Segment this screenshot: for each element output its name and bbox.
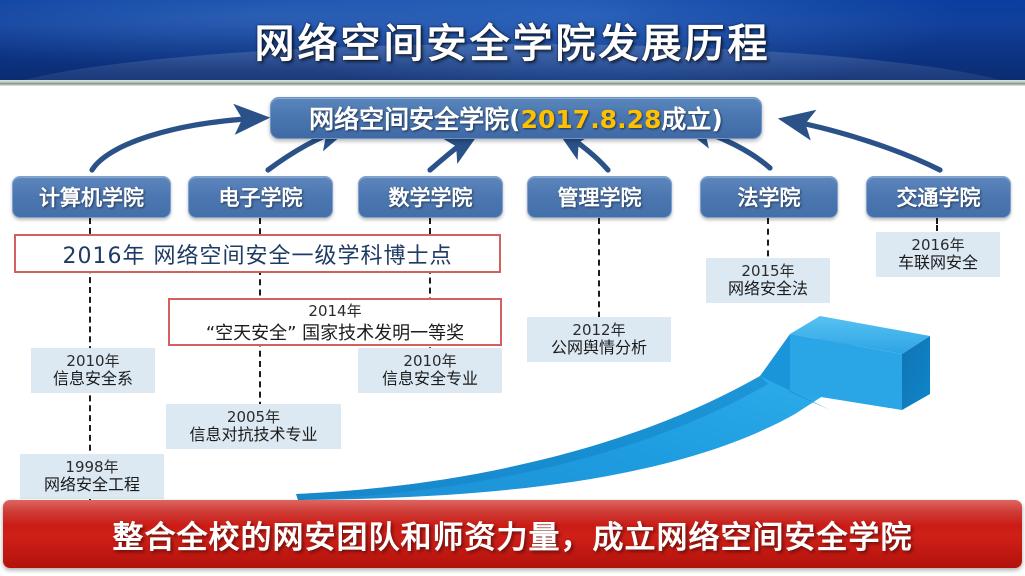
dept-label-management: 管理学院 (558, 182, 642, 212)
dept-box-management[interactable]: 管理学院 (527, 176, 672, 218)
dept-box-transport[interactable]: 交通学院 (866, 176, 1011, 218)
milestone-year-2015: 2015年 (741, 263, 794, 280)
milestone-year-1998: 1998年 (65, 459, 118, 476)
connector-arrow-1 (92, 118, 262, 170)
dept-box-math[interactable]: 数学学院 (358, 176, 503, 218)
milestone-box-2005-major[interactable]: 2005年 信息对抗技术专业 (166, 404, 341, 449)
page-title: 网络空间安全学院发展历程 (0, 11, 1025, 69)
diagram-canvas: 网络空间安全学院(2017.8.28成立) 计算机学院 电子学院 数学学院 管理… (0, 86, 1025, 496)
milestone-year-2012: 2012年 (572, 322, 625, 339)
highlight-label-2014-award: “空天安全” 国家技术发明一等奖 (206, 319, 464, 345)
milestone-label-2016-iov: 车联网安全 (898, 254, 978, 272)
milestone-label-2010-major: 信息安全专业 (382, 370, 478, 388)
milestone-label-2015: 网络安全法 (728, 280, 808, 298)
highlight-box-2014-award[interactable]: 2014年 “空天安全” 国家技术发明一等奖 (168, 298, 502, 346)
hero-suffix: 成立) (661, 105, 722, 134)
dept-label-law: 法学院 (738, 182, 801, 212)
milestone-year-2010-dept: 2010年 (66, 353, 119, 370)
milestone-label-2012: 公网舆情分析 (551, 339, 647, 357)
milestone-year-2010-major: 2010年 (403, 353, 456, 370)
dept-box-electronic[interactable]: 电子学院 (188, 176, 333, 218)
milestone-box-2015-law[interactable]: 2015年 网络安全法 (706, 258, 830, 303)
bottom-banner-text: 整合全校的网安团队和师资力量，成立网络空间安全学院 (113, 512, 913, 557)
hero-founding-date: 2017.8.28 (521, 105, 662, 134)
dept-box-law[interactable]: 法学院 (700, 176, 838, 218)
milestone-box-2010-major[interactable]: 2010年 信息安全专业 (358, 348, 502, 393)
slide-title-bar: 网络空间安全学院发展历程 (0, 0, 1025, 80)
milestone-year-2005: 2005年 (227, 409, 280, 426)
dept-box-computer[interactable]: 计算机学院 (12, 176, 171, 218)
milestone-label-2005: 信息对抗技术专业 (189, 426, 317, 444)
highlight-box-2016-phd[interactable]: 2016年 网络空间安全一级学科博士点 (14, 234, 501, 273)
connector-arrow-6 (786, 120, 940, 170)
dept-label-math: 数学学院 (389, 182, 473, 212)
connector-arrow-3 (430, 136, 473, 170)
dept-label-transport: 交通学院 (897, 182, 981, 212)
milestone-label-1998: 网络安全工程 (44, 476, 140, 494)
center-institute-box[interactable]: 网络空间安全学院(2017.8.28成立) (270, 97, 762, 139)
highlight-year-2014: 2014年 (308, 300, 361, 321)
milestone-year-2016-iov: 2016年 (911, 237, 964, 254)
milestone-box-2010-dept[interactable]: 2010年 信息安全系 (31, 348, 155, 393)
milestone-box-1998-eng[interactable]: 1998年 网络安全工程 (20, 454, 164, 499)
center-institute-label: 网络空间安全学院(2017.8.28成立) (309, 100, 723, 136)
milestone-label-2010-dept: 信息安全系 (53, 370, 133, 388)
highlight-label-2016-phd: 2016年 网络空间安全一级学科博士点 (63, 238, 453, 270)
bottom-banner: 整合全校的网安团队和师资力量，成立网络空间安全学院 (3, 500, 1022, 568)
slide-root: 网络空间安全学院发展历程 (0, 0, 1025, 576)
hero-prefix: 网络空间安全学院( (309, 105, 520, 134)
milestone-box-2016-iov[interactable]: 2016年 车联网安全 (876, 232, 1000, 277)
dept-label-computer: 计算机学院 (39, 182, 144, 212)
milestone-box-2012-opinion[interactable]: 2012年 公网舆情分析 (527, 317, 671, 362)
dept-label-electronic: 电子学院 (219, 182, 303, 212)
